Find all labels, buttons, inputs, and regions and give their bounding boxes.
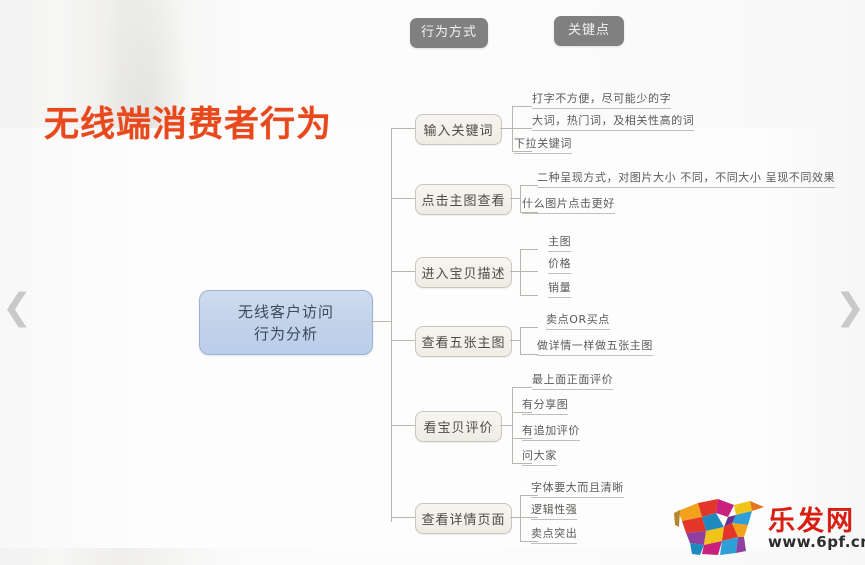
branch-3-child-arm-3 [520, 295, 538, 296]
branch-3-child-1: 主图 [548, 233, 571, 252]
branch-6-stub [510, 517, 520, 518]
center-node-line1: 无线客户访问 [238, 301, 334, 323]
branch-1-child-arm-1 [512, 106, 532, 107]
branch-2-child-1: 二种呈现方式，对图片大小 不同，不同大小 呈现不同效果 [537, 169, 835, 188]
branch-6-child-1: 字体要大而且清晰 [531, 479, 624, 498]
branch-box-4[interactable]: 查看五张主图 [415, 326, 512, 357]
trunk-arm-6 [391, 517, 415, 518]
branch-label-4: 查看五张主图 [421, 332, 505, 351]
trunk-arm-4 [391, 340, 415, 341]
column-header-behaviour: 行为方式 [410, 18, 488, 48]
trunk-arm-1 [391, 128, 415, 129]
branch-4-stub [510, 340, 520, 341]
page-title: 无线端消费者行为 [44, 96, 332, 147]
branch-label-2: 点击主图查看 [421, 190, 505, 209]
branch-label-1: 输入关键词 [423, 120, 493, 139]
branch-3-child-arm-1 [520, 249, 538, 250]
center-node-line2: 行为分析 [254, 323, 318, 345]
branch-2-bracket [520, 185, 521, 212]
branch-3-stub [510, 271, 520, 272]
branch-2-child-arm-1 [520, 185, 538, 186]
chevron-right-icon[interactable]: ❯ [835, 286, 861, 330]
branch-1-child-3: 下拉关键词 [514, 135, 572, 154]
branch-3-child-2: 价格 [548, 255, 571, 274]
branch-4-bracket [520, 327, 521, 354]
branch-label-5: 看宝贝评价 [423, 417, 493, 436]
branch-5-stub [500, 425, 512, 426]
branch-4-child-1: 卖点OR买点 [546, 311, 610, 330]
branch-1-stub [500, 128, 512, 129]
branch-5-child-3: 有追加评价 [522, 422, 580, 441]
branch-1-child-1: 打字不方便，尽可能少的字 [532, 90, 671, 109]
trunk-arm-2 [391, 198, 415, 199]
trunk-stub [371, 321, 391, 322]
branch-6-child-2: 逻辑性强 [531, 501, 577, 520]
mindmap-center-node: 无线客户访问 行为分析 [199, 290, 373, 355]
trunk-arm-5 [391, 425, 415, 426]
branch-3-child-arm-2 [520, 271, 538, 272]
watermark-url: www.6pf.cn [768, 533, 865, 551]
branch-2-stub [510, 198, 520, 199]
branch-3-child-3: 销量 [548, 279, 571, 298]
branch-5-child-1: 最上面正面评价 [532, 371, 613, 390]
branch-1-child-2: 大词，热门词，及相关性高的词 [532, 112, 694, 131]
bull-logo-icon [672, 497, 768, 557]
slide-canvas: ❮ ❯ 无线端消费者行为 行为方式 关键点 无线客户访问 行为分析 输入关键词 … [0, 0, 865, 565]
watermark-logo: 乐发网 www.6pf.cn [672, 497, 860, 561]
branch-box-1[interactable]: 输入关键词 [415, 114, 502, 145]
branch-6-child-3: 卖点突出 [531, 525, 577, 544]
branch-1-child-arm-2 [512, 128, 532, 129]
column-header-keypoint: 关键点 [554, 16, 624, 46]
branch-box-5[interactable]: 看宝贝评价 [415, 411, 502, 442]
branch-box-2[interactable]: 点击主图查看 [415, 184, 512, 215]
branch-4-child-arm-2 [520, 354, 538, 355]
branch-4-child-2: 做详情一样做五张主图 [537, 337, 653, 356]
trunk-arm-3 [391, 271, 415, 272]
chevron-left-icon[interactable]: ❮ [2, 286, 28, 330]
branch-3-bracket [520, 249, 521, 295]
branch-label-6: 查看详情页面 [421, 509, 505, 528]
branch-box-6[interactable]: 查看详情页面 [415, 503, 512, 534]
branch-6-bracket [520, 495, 521, 541]
branch-5-bracket [512, 387, 513, 463]
branch-label-3: 进入宝贝描述 [421, 263, 505, 282]
trunk-spine [391, 128, 392, 522]
branch-2-child-2: 什么图片点击更好 [522, 195, 615, 214]
branch-box-3[interactable]: 进入宝贝描述 [415, 257, 512, 288]
branch-4-child-arm-1 [520, 327, 538, 328]
branch-5-child-2: 有分享图 [522, 396, 568, 415]
branch-5-child-4: 问大家 [522, 447, 557, 466]
branch-5-child-arm-1 [512, 387, 532, 388]
